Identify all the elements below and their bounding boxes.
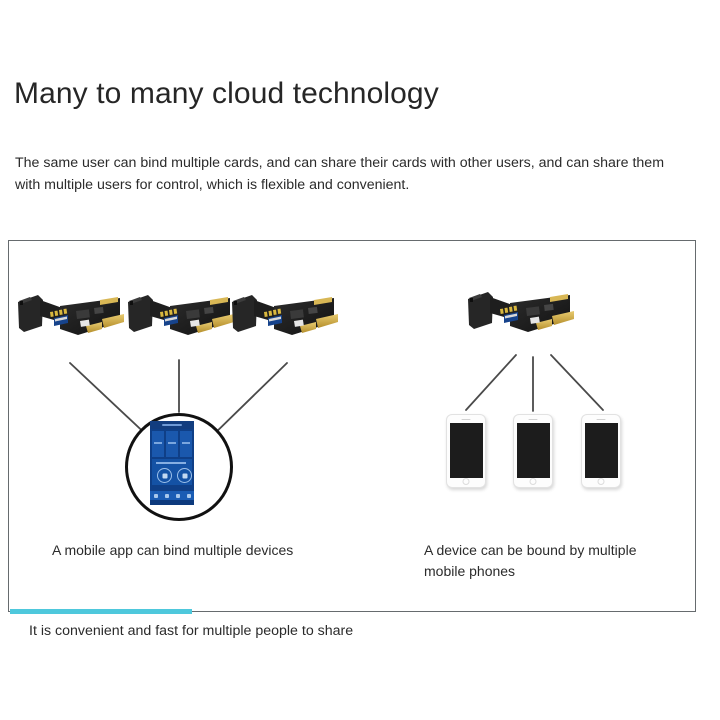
pcie-usb-card-4 — [466, 285, 578, 343]
app-title-placeholder — [162, 424, 182, 427]
app-device-card[interactable] — [166, 431, 178, 457]
phone-earpiece — [529, 419, 538, 421]
phone-screen — [585, 423, 618, 478]
app-nav-item[interactable] — [176, 494, 180, 498]
accent-bar — [10, 609, 192, 614]
phone-home-button — [598, 478, 605, 485]
page-description: The same user can bind multiple cards, a… — [15, 152, 693, 196]
phone-screen — [450, 423, 483, 478]
mobile-phone-1 — [446, 414, 486, 488]
mobile-app-screen — [150, 421, 194, 505]
app-device-card[interactable] — [152, 431, 164, 457]
settings-glyph — [182, 473, 187, 478]
left-group-caption: A mobile app can bind multiple devices — [52, 540, 322, 561]
app-nav-item[interactable] — [154, 494, 158, 498]
phone-earpiece — [462, 419, 471, 421]
app-nav-item[interactable] — [187, 494, 191, 498]
app-nav-item[interactable] — [165, 494, 169, 498]
app-power-icon[interactable] — [157, 468, 172, 483]
mobile-phone-2 — [513, 414, 553, 488]
app-device-card[interactable] — [180, 431, 192, 457]
power-glyph — [162, 473, 167, 478]
right-group-caption: A device can be bound by multiple mobile… — [424, 540, 674, 582]
page-title: Many to many cloud technology — [14, 76, 439, 112]
app-section-title-placeholder — [156, 462, 186, 465]
app-control-section — [152, 459, 192, 485]
phone-screen — [517, 423, 550, 478]
app-titlebar — [150, 421, 194, 429]
app-bottom-nav — [150, 491, 194, 500]
phone-home-button — [463, 478, 470, 485]
app-device-card-row — [150, 429, 194, 457]
pcie-usb-card-1 — [16, 288, 128, 346]
mobile-phone-3 — [581, 414, 621, 488]
phone-home-button — [530, 478, 537, 485]
app-home-indicator — [150, 500, 194, 505]
footer-note: It is convenient and fast for multiple p… — [29, 620, 353, 642]
phone-earpiece — [597, 419, 606, 421]
pcie-usb-card-2 — [126, 288, 238, 346]
app-settings-icon[interactable] — [177, 468, 192, 483]
pcie-usb-card-3 — [230, 288, 342, 346]
